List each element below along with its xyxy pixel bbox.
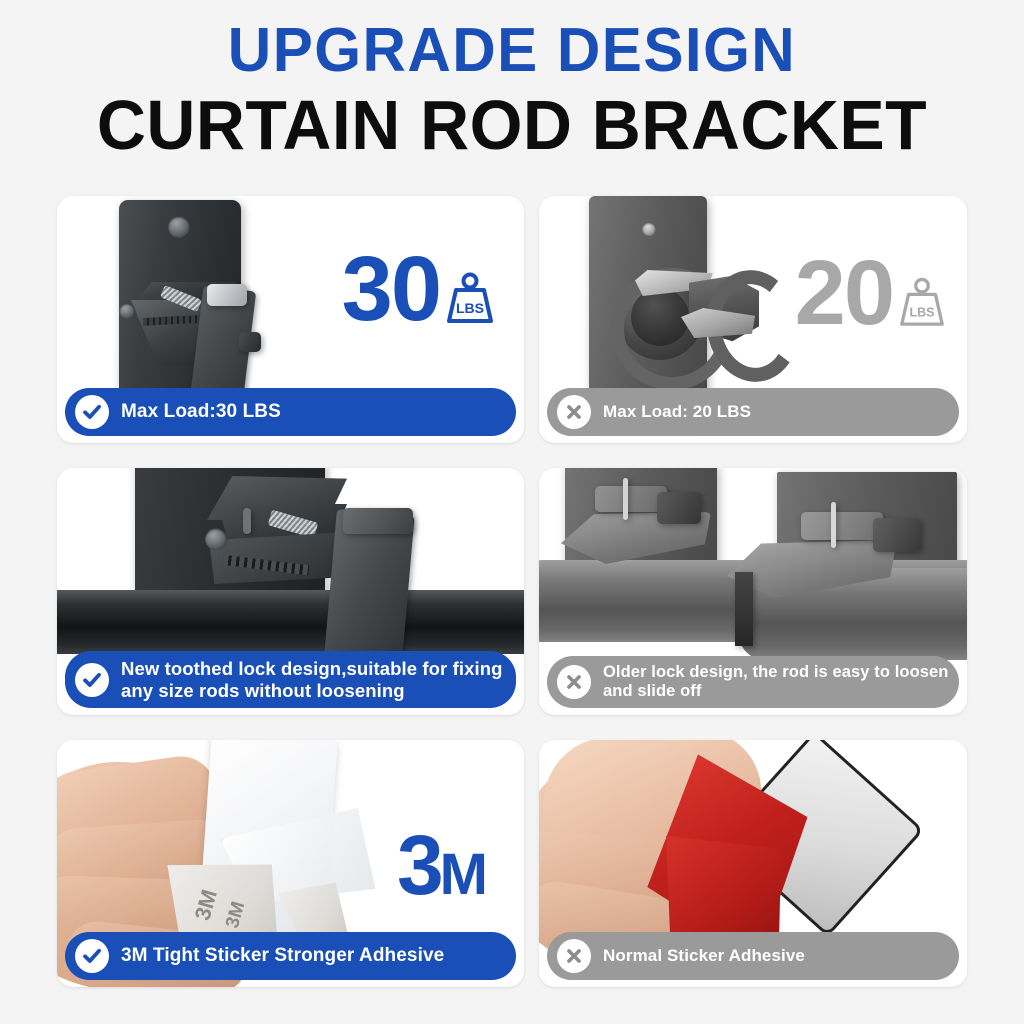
check-icon — [75, 663, 109, 697]
caption-text: Normal Sticker Adhesive — [603, 946, 805, 966]
x-icon — [557, 395, 591, 429]
badge-number: 20 — [795, 252, 893, 335]
caption-text: Max Load:30 LBS — [121, 401, 281, 423]
weight-icon: LBS — [444, 272, 496, 331]
title-line-secondary: CURTAIN ROD BRACKET — [15, 89, 1008, 163]
comparison-grid: 30 LBS Max Load:30 LBS — [57, 196, 967, 987]
page-title: UPGRADE DESIGN CURTAIN ROD BRACKET — [0, 18, 1024, 163]
badge-3m-logo: 3 M — [397, 828, 486, 904]
badge-number: 30 — [342, 248, 440, 331]
card-normal-adhesive: Normal Sticker Adhesive — [539, 740, 967, 987]
caption-3m-adhesive: 3M Tight Sticker Stronger Adhesive — [65, 932, 516, 980]
caption-text: Max Load: 20 LBS — [603, 402, 751, 422]
caption-text: 3M Tight Sticker Stronger Adhesive — [121, 945, 444, 967]
check-icon — [75, 939, 109, 973]
caption-max-load-30: Max Load:30 LBS — [65, 388, 516, 436]
weight-icon: LBS — [897, 277, 947, 334]
badge-max-load-30: 30 LBS — [342, 248, 496, 331]
check-icon — [75, 395, 109, 429]
caption-toothed-lock: New toothed lock design,suitable for fix… — [65, 651, 516, 708]
caption-max-load-20: Max Load: 20 LBS — [547, 388, 959, 436]
caption-text: New toothed lock design,suitable for fix… — [121, 658, 506, 701]
svg-text:LBS: LBS — [910, 305, 935, 319]
card-toothed-lock: New toothed lock design,suitable for fix… — [57, 468, 524, 715]
x-icon — [557, 939, 591, 973]
caption-text: Older lock design, the rod is easy to lo… — [603, 663, 949, 701]
card-older-lock: Older lock design, the rod is easy to lo… — [539, 468, 967, 715]
infographic-page: UPGRADE DESIGN CURTAIN ROD BRACKET 30 — [0, 0, 1024, 1024]
badge-3m-letter: M — [440, 849, 486, 901]
caption-older-lock: Older lock design, the rod is easy to lo… — [547, 656, 959, 708]
card-max-load-30: 30 LBS Max Load:30 LBS — [57, 196, 524, 443]
title-line-primary: UPGRADE DESIGN — [15, 18, 1008, 83]
badge-max-load-20: 20 LBS — [795, 252, 947, 335]
card-3m-adhesive: 3M 3M 3 3 M 3M Tight Sticker Stronger Ad… — [57, 740, 524, 987]
x-icon — [557, 665, 591, 699]
svg-text:LBS: LBS — [456, 300, 484, 316]
badge-3m-number: 3 — [397, 828, 442, 904]
card-max-load-20: 20 LBS Max Load: 20 LBS — [539, 196, 967, 443]
caption-normal-adhesive: Normal Sticker Adhesive — [547, 932, 959, 980]
